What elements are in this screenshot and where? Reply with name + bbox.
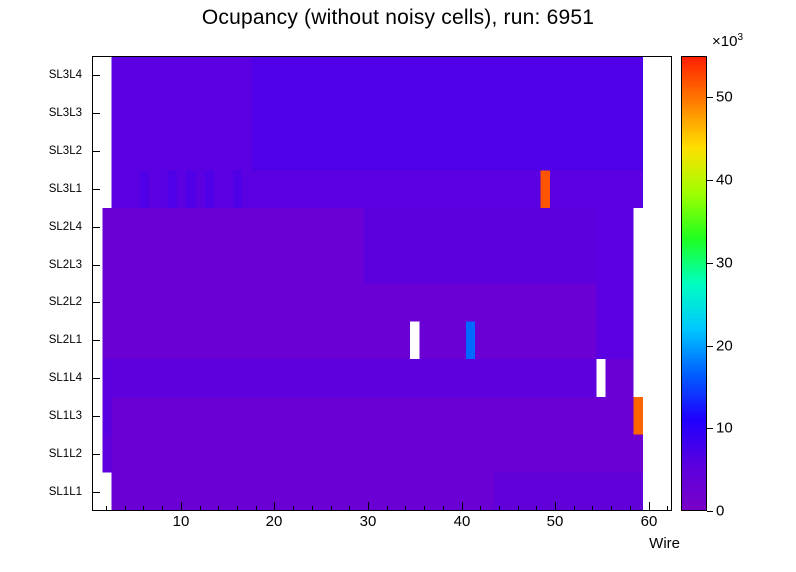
y-axis-tick <box>92 151 100 152</box>
color-scale-tick-label: 20 <box>716 338 733 355</box>
x-axis-tick-label: 40 <box>454 513 471 530</box>
y-axis-tick <box>92 75 100 76</box>
y-axis-labels: SL1L1SL1L2SL1L3SL1L4SL2L1SL2L2SL2L3SL2L4… <box>0 56 90 511</box>
y-axis-label: SL2L3 <box>49 259 82 271</box>
color-scale-tick <box>707 97 713 98</box>
color-scale-tick-label: 40 <box>716 172 733 189</box>
y-axis-label: SL1L1 <box>49 486 82 498</box>
x-axis-tick-label: 10 <box>173 513 190 530</box>
heatmap-plot-area <box>92 56 672 511</box>
x-axis-tick-label: 60 <box>641 513 658 530</box>
x-axis-tick-label: 30 <box>360 513 377 530</box>
y-axis-label: SL2L2 <box>49 296 82 308</box>
color-scale-tick-label: 30 <box>716 255 733 272</box>
y-axis-label: SL2L4 <box>49 221 82 233</box>
color-scale-gradient <box>682 57 706 510</box>
y-axis-label: SL3L3 <box>49 107 82 119</box>
y-axis-label: SL3L4 <box>49 69 82 81</box>
heatmap-image <box>93 57 671 510</box>
y-axis-tick <box>92 454 100 455</box>
y-axis-tick <box>92 492 100 493</box>
y-axis-label: SL1L3 <box>49 410 82 422</box>
x-axis-title: Wire <box>0 535 680 552</box>
color-scale-tick-label: 50 <box>716 89 733 106</box>
color-scale-tick <box>707 511 713 512</box>
color-scale-bar <box>681 56 707 511</box>
y-axis-tick <box>92 416 100 417</box>
y-axis-label: SL1L2 <box>49 448 82 460</box>
color-scale-exponent: ×103 <box>712 32 743 50</box>
color-scale-tick-label: 0 <box>716 503 724 520</box>
color-scale-exponent-base: ×10 <box>712 33 737 50</box>
y-axis-tick <box>92 113 100 114</box>
x-axis-tick-label: 20 <box>266 513 283 530</box>
color-scale-labels: 01020304050 <box>716 56 786 511</box>
y-axis-tick <box>92 378 100 379</box>
color-scale-tick <box>707 263 713 264</box>
color-scale-tick <box>707 346 713 347</box>
heatmap-canvas-wrapper <box>93 57 671 510</box>
y-axis-tick <box>92 340 100 341</box>
y-axis-label: SL1L4 <box>49 372 82 384</box>
y-axis-ticks <box>92 56 102 511</box>
color-scale-exponent-power: 3 <box>737 32 743 43</box>
color-scale-tick-label: 10 <box>716 420 733 437</box>
color-scale-tick <box>707 428 713 429</box>
chart-title: Ocupancy (without noisy cells), run: 695… <box>0 6 796 30</box>
color-scale-ticks <box>707 56 715 511</box>
chart-root: Ocupancy (without noisy cells), run: 695… <box>0 0 796 572</box>
y-axis-tick <box>92 189 100 190</box>
y-axis-tick <box>92 265 100 266</box>
color-scale-tick <box>707 180 713 181</box>
x-axis-tick-label: 50 <box>547 513 564 530</box>
x-axis-tick-labels: 102030405060 <box>92 513 672 533</box>
y-axis-tick <box>92 227 100 228</box>
y-axis-tick <box>92 302 100 303</box>
y-axis-label: SL3L2 <box>49 145 82 157</box>
y-axis-label: SL3L1 <box>49 183 82 195</box>
y-axis-label: SL2L1 <box>49 334 82 346</box>
